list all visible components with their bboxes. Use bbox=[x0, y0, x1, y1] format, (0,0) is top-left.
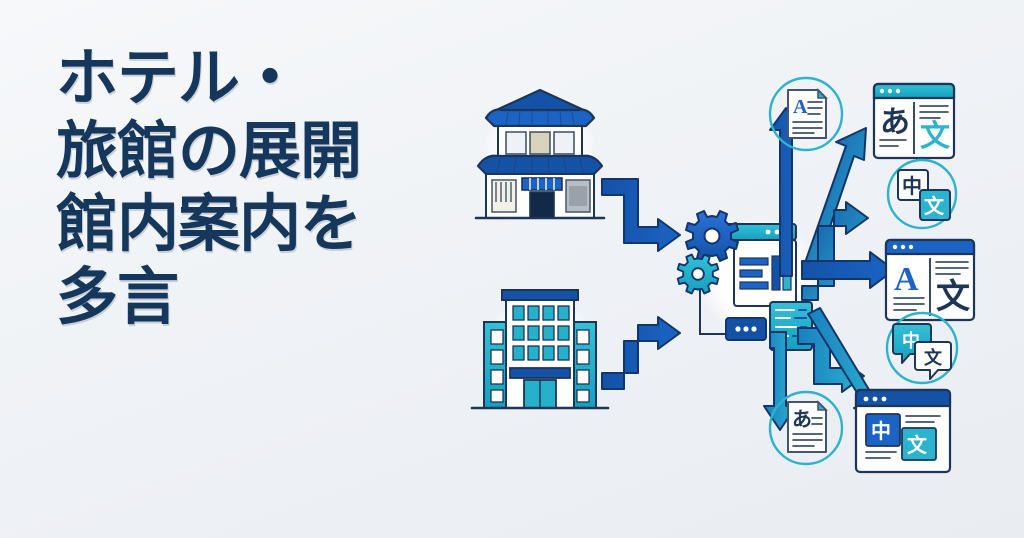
illustration: A あ 文 中 文 bbox=[462, 46, 1024, 516]
svg-text:文: 文 bbox=[924, 194, 945, 218]
svg-text:あ: あ bbox=[880, 106, 910, 139]
headline-line-1: ホテル・ bbox=[56, 48, 486, 110]
page-title: ホテル・ 旅館の展開 館内案内を 多言 bbox=[56, 48, 486, 340]
output-chat-bubbles: 中 文 bbox=[887, 313, 957, 383]
headline-line-4: 多言 bbox=[56, 267, 486, 329]
source-hotel bbox=[472, 290, 608, 409]
svg-text:文: 文 bbox=[936, 278, 970, 316]
svg-text:A: A bbox=[793, 96, 808, 118]
headline-line-3: 館内案内を bbox=[56, 194, 486, 256]
svg-text:文: 文 bbox=[907, 433, 928, 457]
inbound-arrow-ryokan bbox=[602, 179, 680, 251]
svg-text:文: 文 bbox=[920, 119, 950, 153]
inbound-arrow-hotel bbox=[602, 317, 680, 389]
svg-text:中: 中 bbox=[871, 419, 891, 443]
svg-text:あ: あ bbox=[792, 408, 812, 431]
output-browser-chinese: 中 文 bbox=[856, 390, 950, 472]
svg-text:A: A bbox=[894, 261, 919, 298]
output-browser-latin: A 文 bbox=[886, 240, 974, 320]
output-browser-hiragana: あ 文 bbox=[874, 84, 954, 158]
slide-canvas: ホテル・ 旅館の展開 館内案内を 多言 bbox=[0, 0, 1024, 538]
source-ryokan bbox=[476, 90, 604, 218]
svg-text:文: 文 bbox=[924, 347, 943, 368]
headline-line-2: 旅館の展開 bbox=[56, 121, 486, 183]
output-badge-chinese: 中 文 bbox=[888, 160, 956, 228]
